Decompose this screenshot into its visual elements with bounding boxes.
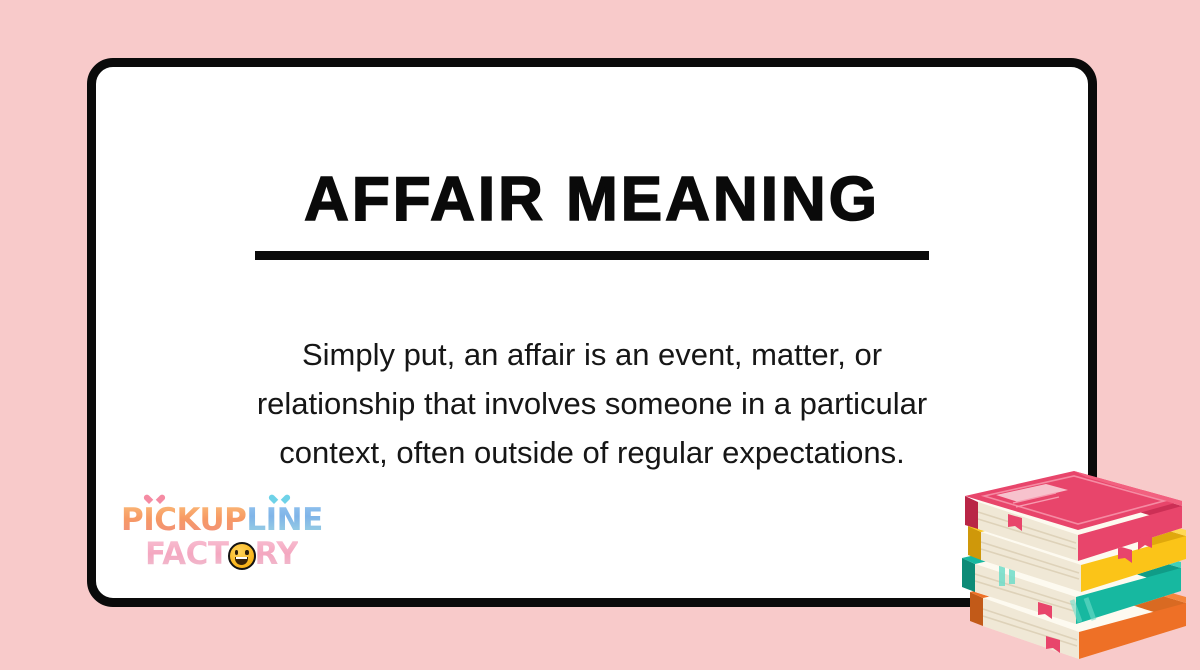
logo-word-ry-text: RY [255, 536, 299, 572]
brand-logo[interactable]: PICKUP LINE FACT RY [121, 505, 336, 583]
grinning-face-icon [228, 542, 256, 570]
title-divider [255, 251, 929, 260]
emoji-eye-right [245, 550, 248, 555]
heart-icon-pink [149, 494, 160, 504]
logo-line-1: PICKUP LINE [121, 505, 336, 536]
page-title: AFFAIR MEANING [96, 169, 1088, 231]
logo-word-fact: FACT [145, 539, 229, 570]
logo-word-ry: RY [255, 539, 299, 570]
logo-word-fact-text: FACT [145, 536, 229, 572]
emoji-mouth [235, 557, 248, 565]
logo-word-line: LINE [246, 505, 322, 536]
emoji-eye-left [235, 550, 238, 555]
logo-line-2: FACT RY [145, 539, 336, 570]
heart-icon-cyan [274, 494, 285, 504]
logo-word-line-text: LINE [246, 502, 322, 538]
definition-text: Simply put, an affair is an event, matte… [242, 330, 942, 477]
logo-word-pickup: PICKUP [121, 505, 246, 536]
content-card: AFFAIR MEANING Simply put, an affair is … [87, 58, 1097, 607]
logo-word-pickup-text: PICKUP [121, 502, 246, 538]
poster-canvas: AFFAIR MEANING Simply put, an affair is … [0, 0, 1200, 670]
